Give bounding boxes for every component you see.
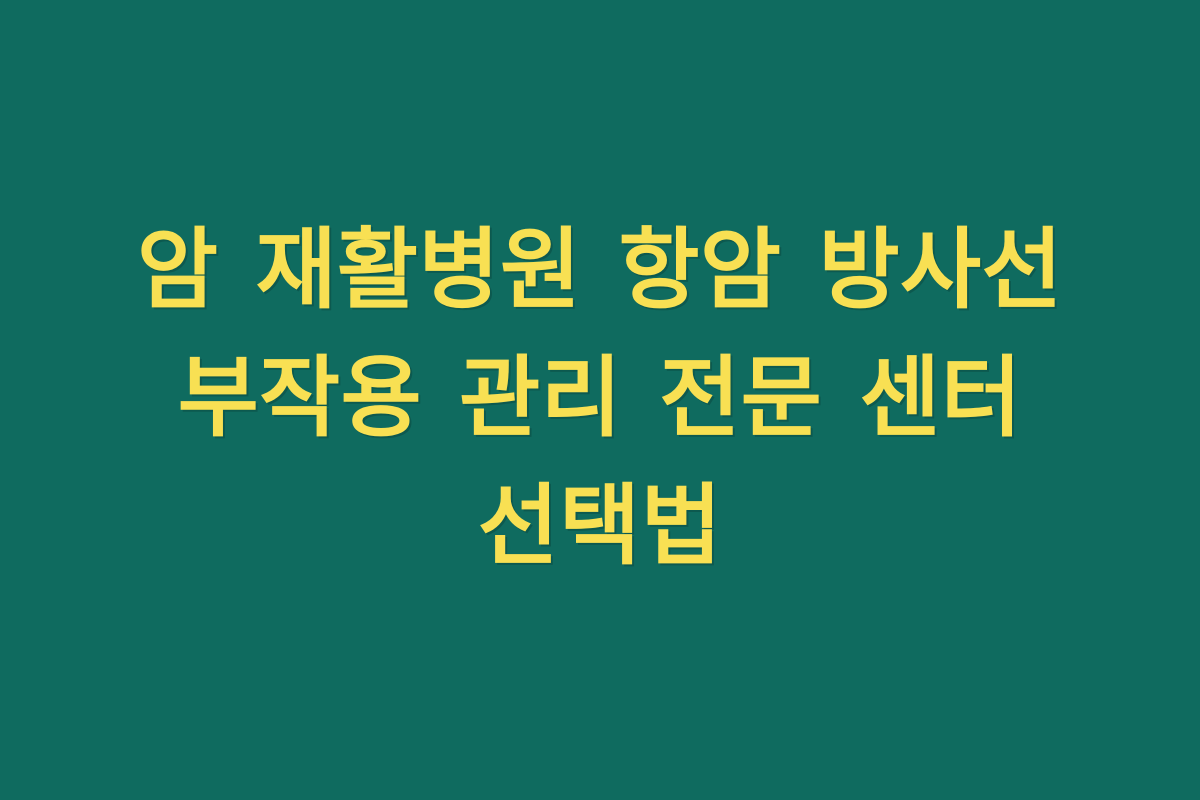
- headline-line-1: 암 재활병원 항암 방사선: [30, 206, 1170, 334]
- title-banner: 암 재활병원 항암 방사선 부작용 관리 전문 센터 선택법: [0, 0, 1200, 800]
- page-title: 암 재활병원 항암 방사선 부작용 관리 전문 센터 선택법: [30, 206, 1170, 590]
- headline-line-3: 선택법: [30, 462, 1170, 590]
- headline-block: 암 재활병원 항암 방사선 부작용 관리 전문 센터 선택법: [0, 206, 1200, 590]
- headline-line-2: 부작용 관리 전문 센터: [30, 334, 1170, 462]
